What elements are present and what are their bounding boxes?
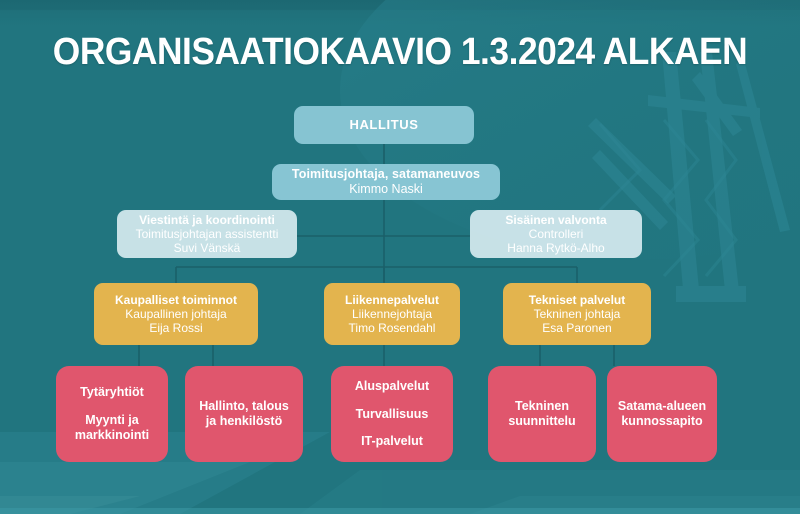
- node-tytaryhtiot-line3: markkinointi: [75, 428, 149, 443]
- node-liikennepalvelut[interactable]: Liikennepalvelut Liikennejohtaja Timo Ro…: [324, 283, 460, 345]
- node-tekniset-title: Tekniset palvelut: [529, 293, 625, 307]
- node-liikennepalvelut-title: Liikennepalvelut: [345, 293, 439, 307]
- node-hallitus-label: HALLITUS: [349, 117, 418, 132]
- node-viestinta-title: Viestintä ja koordinointi: [139, 213, 275, 227]
- node-toimitusjohtaja[interactable]: Toimitusjohtaja, satamaneuvos Kimmo Nask…: [272, 164, 500, 200]
- node-tekninen-suunnittelu-line1: Tekninen: [515, 399, 569, 414]
- node-hallitus[interactable]: HALLITUS: [294, 106, 474, 144]
- node-aluspalvelut-line1: Aluspalvelut: [355, 379, 429, 394]
- node-toimitusjohtaja-title: Toimitusjohtaja, satamaneuvos: [292, 167, 480, 182]
- node-tekniset-person: Esa Paronen: [542, 321, 611, 335]
- node-tekniset-role: Tekninen johtaja: [534, 307, 621, 321]
- node-hallinto-talous-henkilosto[interactable]: Hallinto, talous ja henkilöstö: [185, 366, 303, 462]
- node-kaupalliset-toiminnot[interactable]: Kaupalliset toiminnot Kaupallinen johtaj…: [94, 283, 258, 345]
- node-sisainen-valvonta[interactable]: Sisäinen valvonta Controlleri Hanna Rytk…: [470, 210, 642, 258]
- node-viestinta-ja-koordinointi[interactable]: Viestintä ja koordinointi Toimitusjohtaj…: [117, 210, 297, 258]
- node-tekninen-suunnittelu[interactable]: Tekninen suunnittelu: [488, 366, 596, 462]
- node-sisainen-person: Hanna Rytkö-Alho: [507, 241, 604, 255]
- node-hallinto-line1: Hallinto, talous: [199, 399, 289, 414]
- node-tytaryhtiot-line2: Myynti ja: [85, 413, 139, 428]
- node-kaupalliset-person: Eija Rossi: [149, 321, 202, 335]
- node-tytaryhtiot[interactable]: Tytäryhtiöt Myynti ja markkinointi: [56, 366, 168, 462]
- node-satama-alueen-kunnossapito[interactable]: Satama-alueen kunnossapito: [607, 366, 717, 462]
- node-toimitusjohtaja-person: Kimmo Naski: [349, 182, 423, 197]
- node-tekniset-palvelut[interactable]: Tekniset palvelut Tekninen johtaja Esa P…: [503, 283, 651, 345]
- node-sisainen-role: Controlleri: [529, 227, 584, 241]
- node-kaupalliset-role: Kaupallinen johtaja: [125, 307, 226, 321]
- node-viestinta-person: Suvi Vänskä: [174, 241, 241, 255]
- node-hallinto-line2: ja henkilöstö: [206, 414, 282, 429]
- node-liikennepalvelut-person: Timo Rosendahl: [349, 321, 436, 335]
- organization-chart-slide: ORGANISAATIOKAAVIO 1.3.2024 ALKAEN: [0, 0, 800, 514]
- node-tekninen-suunnittelu-line2: suunnittelu: [508, 414, 575, 429]
- node-aluspalvelut-line3: IT-palvelut: [361, 434, 423, 449]
- node-aluspalvelut-line2: Turvallisuus: [356, 407, 429, 422]
- node-viestinta-role: Toimitusjohtajan assistentti: [136, 227, 279, 241]
- node-tytaryhtiot-line1: Tytäryhtiöt: [80, 385, 144, 400]
- node-kunnossapito-line2: kunnossapito: [621, 414, 702, 429]
- node-kunnossapito-line1: Satama-alueen: [618, 399, 706, 414]
- node-sisainen-title: Sisäinen valvonta: [505, 213, 606, 227]
- node-aluspalvelut-turvallisuus-it[interactable]: Aluspalvelut Turvallisuus IT-palvelut: [331, 366, 453, 462]
- node-liikennepalvelut-role: Liikennejohtaja: [352, 307, 432, 321]
- node-kaupalliset-title: Kaupalliset toiminnot: [115, 293, 237, 307]
